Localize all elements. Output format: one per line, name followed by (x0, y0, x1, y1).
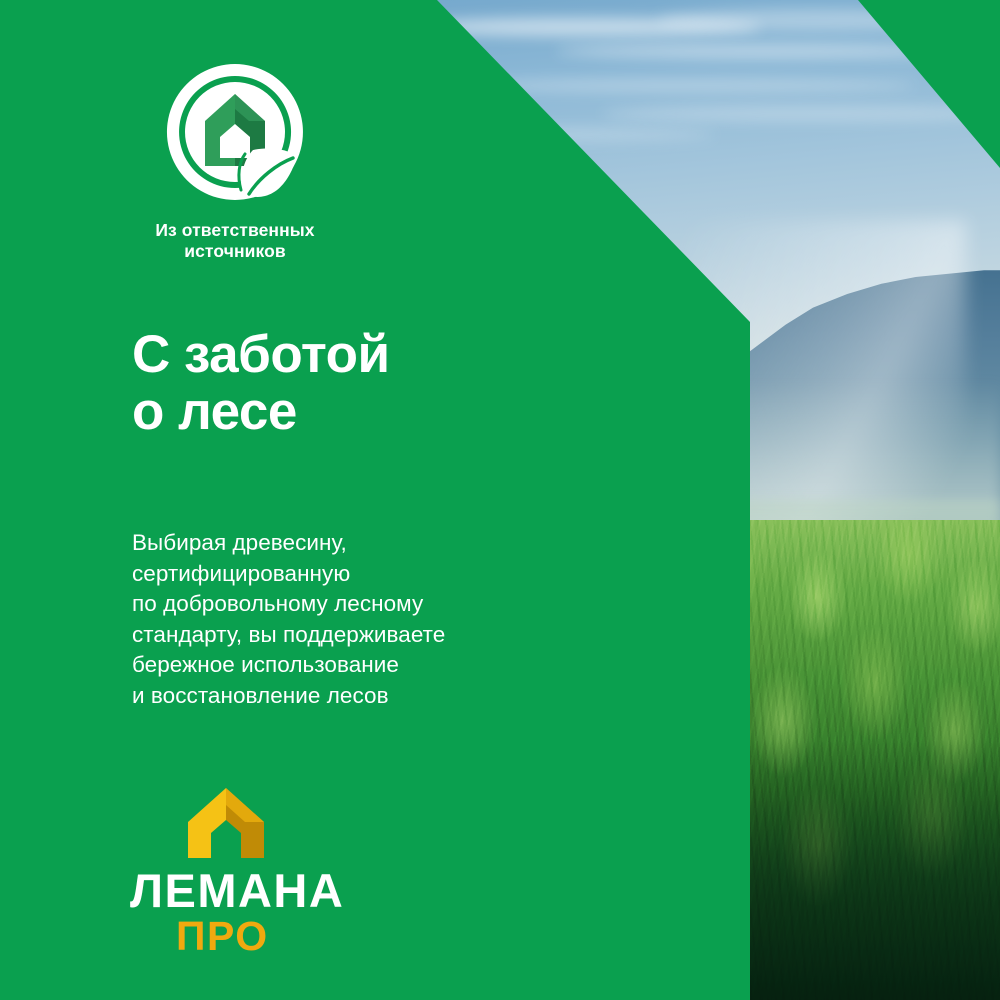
body-line2: сертифицированную (132, 559, 652, 590)
content-column: Из ответственных источников С заботой о … (0, 0, 760, 1000)
poster-canvas: Из ответственных источников С заботой о … (0, 0, 1000, 1000)
brand-name: ЛЕМАНА (130, 868, 360, 914)
brand-lockup: ЛЕМАНА ПРО (130, 786, 360, 958)
body-line6: и восстановление лесов (132, 681, 652, 712)
body-line1: Выбирая древесину, (132, 528, 652, 559)
lemana-house-icon (182, 786, 270, 860)
brand-sub: ПРО (176, 916, 360, 958)
badge-caption-line1: Из ответственных (130, 220, 340, 241)
responsible-sourcing-house-leaf-icon (161, 58, 309, 206)
headline-line1: С заботой (132, 327, 652, 384)
body-line3: по добровольному лесному (132, 589, 652, 620)
body-line5: бережное использование (132, 650, 652, 681)
page-title: С заботой о лесе (132, 327, 652, 440)
body-copy: Выбирая древесину, сертифицированную по … (132, 528, 652, 712)
body-line4: стандарту, вы поддерживаете (132, 620, 652, 651)
badge-caption: Из ответственных источников (130, 220, 340, 263)
badge-caption-line2: источников (130, 241, 340, 262)
headline-line2: о лесе (132, 384, 652, 441)
responsible-sourcing-badge: Из ответственных источников (130, 58, 340, 263)
